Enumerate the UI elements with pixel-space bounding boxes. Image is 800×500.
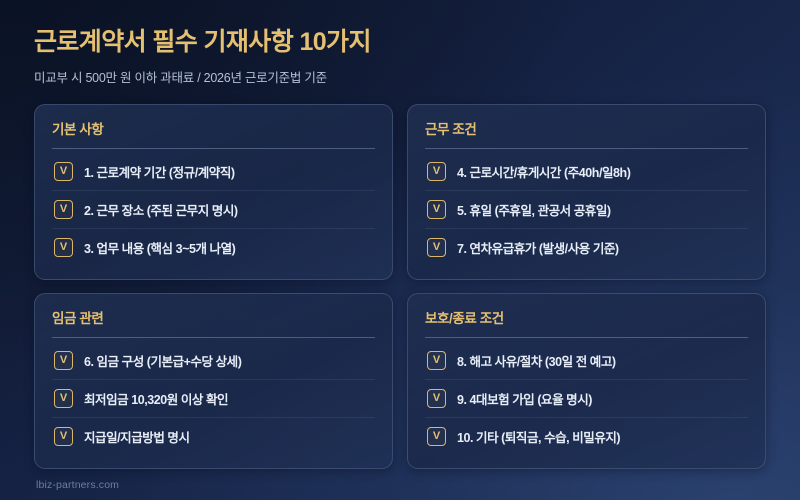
card-header-divider (52, 148, 375, 149)
checkbox-v-icon: V (427, 427, 446, 446)
list-item[interactable]: V 2. 근무 장소 (주된 근무지 명시) (52, 191, 375, 229)
checkbox-v-icon: V (427, 389, 446, 408)
card-title: 임금 관련 (52, 307, 375, 337)
list-item[interactable]: V 8. 해고 사유/절차 (30일 전 예고) (425, 342, 748, 380)
checkbox-v-icon: V (54, 351, 73, 370)
card-header-divider (425, 148, 748, 149)
card-grid: 기본 사항 V 1. 근로계약 기간 (정규/계약직) V 2. 근무 장소 (… (34, 104, 766, 470)
list-item[interactable]: V 7. 연차유급휴가 (발생/사용 기준) (425, 229, 748, 266)
list-item[interactable]: V 6. 임금 구성 (기본급+수당 상세) (52, 342, 375, 380)
page-subtitle: 미교부 시 500만 원 이하 과태료 / 2026년 근로기준법 기준 (34, 67, 766, 86)
infographic-poster: 근로계약서 필수 기재사항 10가지 미교부 시 500만 원 이하 과태료 /… (0, 0, 800, 500)
card-title: 기본 사항 (52, 118, 375, 148)
list-item[interactable]: V 5. 휴일 (주휴일, 관공서 공휴일) (425, 191, 748, 229)
checkbox-v-icon: V (427, 200, 446, 219)
list-item-label: 6. 임금 구성 (기본급+수당 상세) (84, 351, 241, 370)
list-item-label: 1. 근로계약 기간 (정규/계약직) (84, 162, 235, 181)
card-header-divider (52, 337, 375, 338)
list-item[interactable]: V 1. 근로계약 기간 (정규/계약직) (52, 153, 375, 191)
list-item-label: 4. 근로시간/휴게시간 (주40h/일8h) (457, 162, 630, 181)
card-item-list: V 6. 임금 구성 (기본급+수당 상세) V 최저임금 10,320원 이상… (52, 342, 375, 460)
source-attribution: lbiz-partners.com (34, 469, 766, 500)
card-item-list: V 4. 근로시간/휴게시간 (주40h/일8h) V 5. 휴일 (주휴일, … (425, 153, 748, 271)
list-item-label: 7. 연차유급휴가 (발생/사용 기준) (457, 238, 619, 257)
checkbox-v-icon: V (54, 389, 73, 408)
list-item-label: 5. 휴일 (주휴일, 관공서 공휴일) (457, 200, 611, 219)
checkbox-v-icon: V (54, 162, 73, 181)
list-item[interactable]: V 최저임금 10,320원 이상 확인 (52, 380, 375, 418)
card-title: 보호/종료 조건 (425, 307, 748, 337)
list-item-label: 지급일/지급방법 명시 (84, 427, 190, 446)
card-item-list: V 8. 해고 사유/절차 (30일 전 예고) V 9. 4대보험 가입 (요… (425, 342, 748, 460)
card-wage-related: 임금 관련 V 6. 임금 구성 (기본급+수당 상세) V 최저임금 10,3… (34, 293, 393, 469)
card-protection-termination: 보호/종료 조건 V 8. 해고 사유/절차 (30일 전 예고) V 9. 4… (407, 293, 766, 469)
checkbox-v-icon: V (54, 427, 73, 446)
list-item[interactable]: V 3. 업무 내용 (핵심 3~5개 나열) (52, 229, 375, 266)
list-item[interactable]: V 10. 기타 (퇴직금, 수습, 비밀유지) (425, 418, 748, 455)
checkbox-v-icon: V (427, 351, 446, 370)
card-item-list: V 1. 근로계약 기간 (정규/계약직) V 2. 근무 장소 (주된 근무지… (52, 153, 375, 271)
card-header-divider (425, 337, 748, 338)
list-item-label: 3. 업무 내용 (핵심 3~5개 나열) (84, 238, 235, 257)
card-basic-matters: 기본 사항 V 1. 근로계약 기간 (정규/계약직) V 2. 근무 장소 (… (34, 104, 393, 280)
checkbox-v-icon: V (54, 200, 73, 219)
list-item[interactable]: V 지급일/지급방법 명시 (52, 418, 375, 455)
list-item-label: 9. 4대보험 가입 (요율 명시) (457, 389, 592, 408)
list-item-label: 최저임금 10,320원 이상 확인 (84, 389, 228, 408)
page-title: 근로계약서 필수 기재사항 10가지 (34, 28, 766, 58)
poster-header: 근로계약서 필수 기재사항 10가지 미교부 시 500만 원 이하 과태료 /… (34, 28, 766, 86)
list-item[interactable]: V 4. 근로시간/휴게시간 (주40h/일8h) (425, 153, 748, 191)
checkbox-v-icon: V (427, 238, 446, 257)
list-item-label: 10. 기타 (퇴직금, 수습, 비밀유지) (457, 427, 620, 446)
list-item-label: 2. 근무 장소 (주된 근무지 명시) (84, 200, 238, 219)
checkbox-v-icon: V (54, 238, 73, 257)
list-item[interactable]: V 9. 4대보험 가입 (요율 명시) (425, 380, 748, 418)
card-title: 근무 조건 (425, 118, 748, 148)
list-item-label: 8. 해고 사유/절차 (30일 전 예고) (457, 351, 616, 370)
checkbox-v-icon: V (427, 162, 446, 181)
card-work-conditions: 근무 조건 V 4. 근로시간/휴게시간 (주40h/일8h) V 5. 휴일 … (407, 104, 766, 280)
